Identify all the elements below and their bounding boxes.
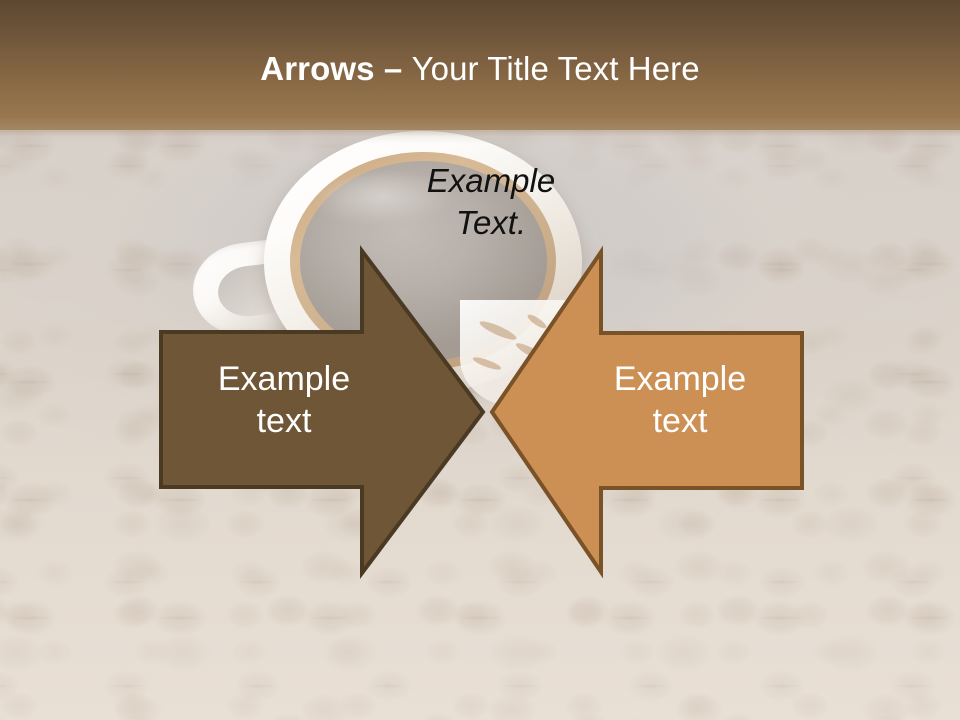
title-band-fade: [0, 118, 960, 144]
cup-decoration-mark: [472, 355, 503, 372]
left-arrow-label: Example text: [170, 358, 398, 442]
cup-decoration-mark: [478, 318, 518, 342]
page-title: Arrows – Your Title Text Here: [0, 49, 960, 89]
title-separator: –: [375, 50, 412, 87]
slide-canvas: Arrows – Your Title Text Here Example te…: [0, 0, 960, 720]
cup-decoration-mark: [514, 340, 548, 363]
cup-decoration-mark: [526, 312, 548, 330]
title-bold-segment: Arrows: [260, 50, 374, 87]
right-arrow-label: Example text: [566, 358, 794, 442]
title-regular-segment: Your Title Text Here: [412, 50, 700, 87]
center-caption-text: Example Text.: [378, 160, 604, 244]
